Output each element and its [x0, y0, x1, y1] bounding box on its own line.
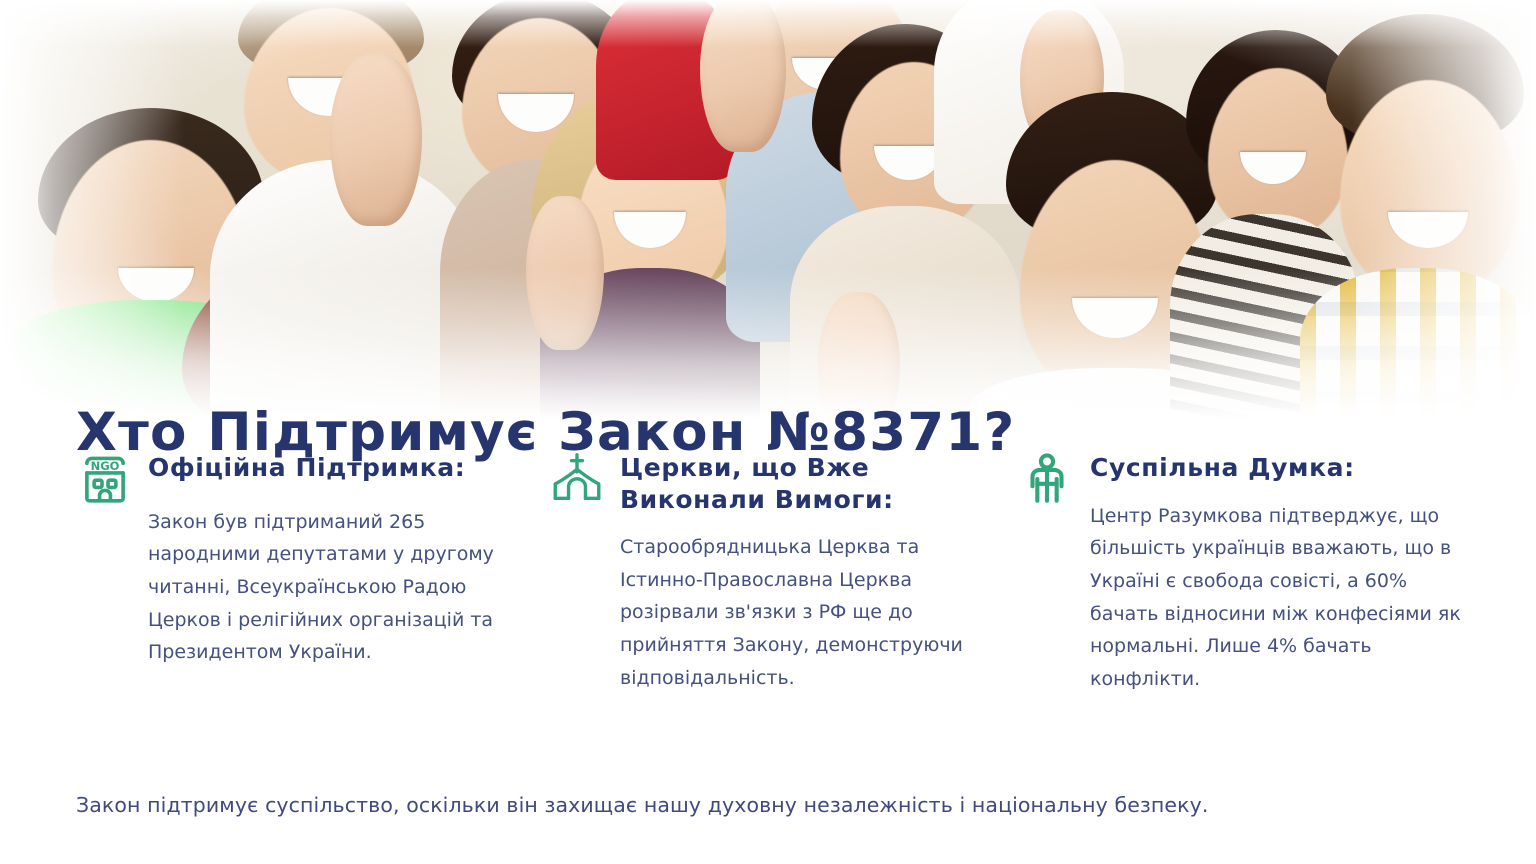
column-official-support: NGO Офіційна Підтримка: Закон був підтри… [0, 446, 540, 715]
support-columns: NGO Офіційна Підтримка: Закон був підтри… [0, 446, 1536, 715]
column-public-opinion: Суспільна Думка: Центр Разумкова підтвер… [1010, 446, 1536, 715]
column-text: Центр Разумкова підтверджує, що більшіст… [1090, 500, 1464, 696]
hero-photo [0, 0, 1536, 432]
column-text: Старообрядницька Церква та Істинно-Право… [620, 531, 992, 694]
column-compliant-churches: Церкви, що Вже Виконали Вимоги: Старообр… [540, 446, 1010, 715]
column-body: Церкви, що Вже Виконали Вимоги: Старообр… [620, 446, 1010, 713]
footer-note: Закон підтримує суспільство, оскільки ві… [76, 793, 1208, 817]
person-icon [1018, 450, 1076, 508]
column-body: Офіційна Підтримка: Закон був підтримани… [148, 446, 540, 688]
hero-vignette [0, 0, 1536, 432]
column-heading: Суспільна Думка: [1090, 452, 1536, 484]
column-text: Закон був підтриманий 265 народними депу… [148, 506, 528, 669]
page-title: Хто Підтримує Закон №8371? [76, 404, 1015, 462]
column-body: Суспільна Думка: Центр Разумкова підтвер… [1090, 446, 1536, 715]
hero-banner [0, 0, 1536, 432]
